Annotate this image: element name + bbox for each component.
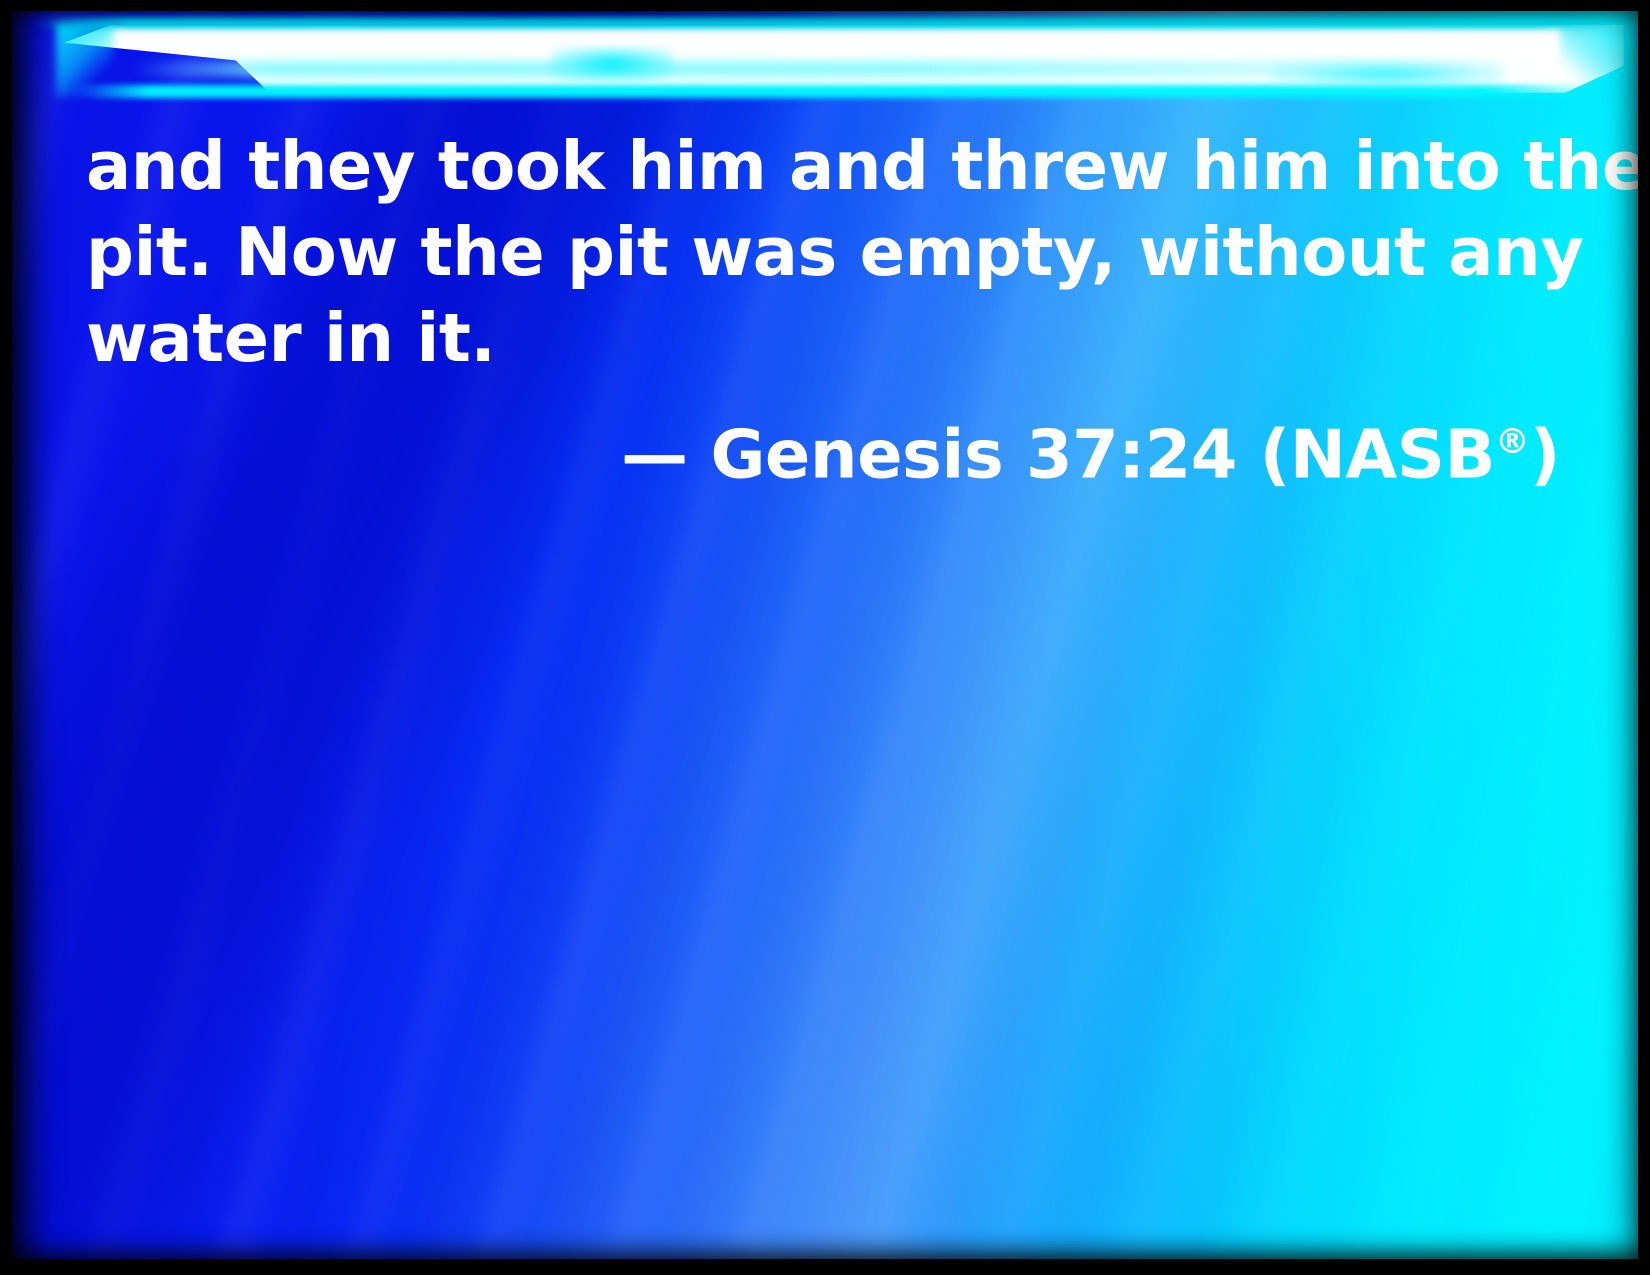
top-banner (12, 25, 1638, 93)
verse-line-1: and they took him and threw him into the (86, 123, 1566, 209)
scripture-slide: and they took him and threw him into the… (0, 0, 1650, 1275)
verse-line-2: pit. Now the pit was empty, without any (86, 209, 1566, 295)
attribution-em-dash: — (621, 415, 688, 493)
verse-attribution: — Genesis 37:24 (NASB®) (86, 399, 1566, 497)
attribution-translation-open: (NASB (1260, 415, 1495, 493)
banner-cyan-highlight-left (552, 47, 672, 81)
registered-trademark-icon: ® (1495, 422, 1530, 462)
banner-left-taper (56, 23, 114, 97)
attribution-reference: Genesis 37:24 (710, 415, 1236, 493)
banner-right-taper (1560, 23, 1630, 99)
verse-text-block: and they took him and threw him into the… (86, 123, 1566, 497)
verse-line-3: water in it. (86, 295, 1566, 381)
attribution-translation-close: ) (1530, 415, 1560, 493)
slide-background-canvas: and they took him and threw him into the… (12, 11, 1638, 1259)
banner-cyan-highlight-right (1272, 61, 1502, 87)
banner-cyan-top-edge (32, 17, 1632, 29)
